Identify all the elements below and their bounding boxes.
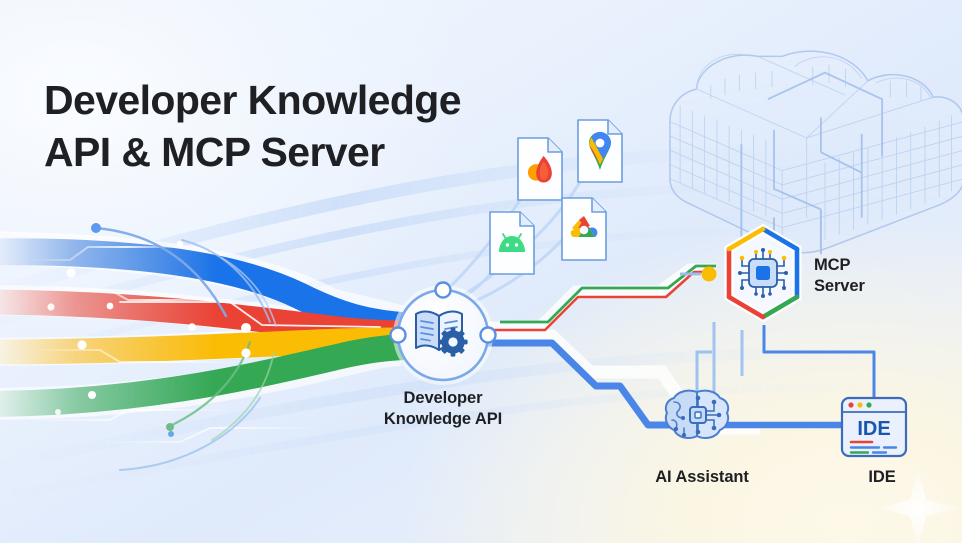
page-title-line1: Developer Knowledge xyxy=(44,74,564,126)
api-port-left xyxy=(391,328,406,343)
mcp-server-node[interactable] xyxy=(729,229,797,317)
mcp-label-line1: MCP xyxy=(814,255,934,276)
mcp-server-label: MCP Server xyxy=(814,255,934,297)
page-title: Developer Knowledge API & MCP Server xyxy=(44,74,564,179)
developer-knowledge-api-label: Developer Knowledge API xyxy=(337,388,549,430)
api-label-line2: Knowledge API xyxy=(337,409,549,430)
diagram-canvas: IDE Developer Knowledge API & MCP Server… xyxy=(0,0,962,543)
mcp-label-line2: Server xyxy=(814,276,934,297)
developer-knowledge-api-node[interactable] xyxy=(391,283,496,386)
ide-node[interactable]: IDE xyxy=(842,398,906,456)
ide-label: IDE xyxy=(822,467,942,488)
api-label-line1: Developer xyxy=(337,388,549,409)
ide-window-icon: IDE xyxy=(842,398,906,456)
page-title-line2: API & MCP Server xyxy=(44,126,564,178)
ai-assistant-node[interactable] xyxy=(666,391,728,438)
api-port-right xyxy=(481,328,496,343)
brain-chip-icon xyxy=(666,391,728,438)
ai-assistant-label: AI Assistant xyxy=(622,467,782,488)
api-port-top xyxy=(436,283,451,298)
ide-screen-text: IDE xyxy=(857,418,890,440)
